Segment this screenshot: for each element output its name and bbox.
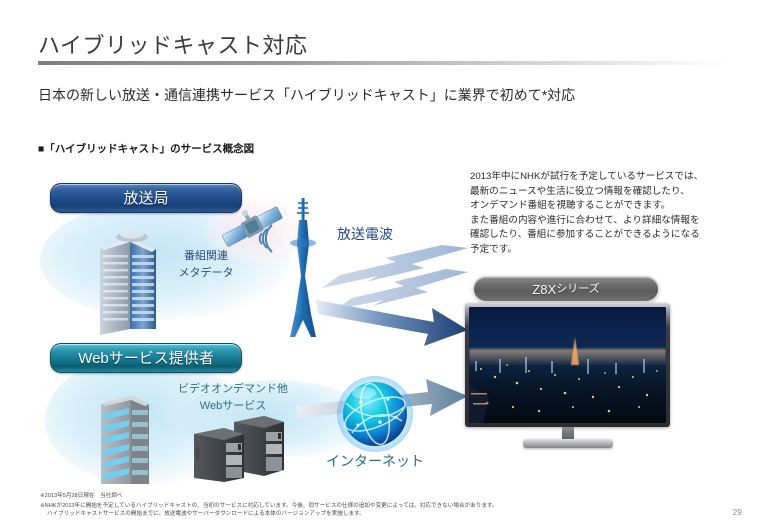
broadcaster-label-pill: 放送局 [50, 183, 242, 213]
description-line-5: 確認したり、番組に参加することができるようになる [470, 228, 720, 243]
title-divider [38, 61, 728, 65]
web-provider-label-pill: Webサービス提供者 [50, 343, 242, 373]
page-subtitle: 日本の新しい放送・通信連携サービス「ハイブリッドキャスト」に業界で初めて*対応 [38, 85, 575, 105]
description-line-2: 最新のニュースや生活に役立つ情報を確認したり、 [470, 185, 720, 200]
internet-label: インターネット [326, 453, 424, 470]
metadata-label-line-2: メタデータ [168, 265, 244, 282]
footnote-line-2: ※NHKが2013年に開始を予定しているハイブリッドキャストの、当初のサービスに… [40, 502, 498, 510]
airwave-label: 放送電波 [337, 226, 393, 243]
description-line-4: また番組の内容や進行に合わせて、より詳細な情報を [470, 214, 720, 229]
page-number: 29 [733, 507, 742, 517]
tv-bezel [465, 303, 670, 427]
web-provider-label-text: Webサービス提供者 [78, 351, 214, 366]
broadcaster-label-text: 放送局 [123, 191, 168, 206]
server-rack-icon [190, 412, 290, 482]
description-line-1: 2013年中にNHKが試行を予定しているサービスでは、 [470, 170, 720, 185]
web-service-label: ビデオオンデマンド他 Webサービス [168, 381, 298, 415]
tv-series-label-text: Z8X [532, 283, 556, 296]
footnote-line-1: ※2013年5月28日現在 当社調べ [40, 492, 122, 500]
description-line-3: オンデマンド番組を視聴することができます。 [470, 199, 720, 214]
tv-stand-base [523, 439, 613, 448]
page-title: ハイブリッドキャスト対応 [38, 28, 308, 60]
tv-series-label-suffix: シリーズ [556, 284, 599, 295]
tv-screen [469, 307, 666, 423]
night-cityscape [469, 307, 666, 423]
television-icon [465, 303, 670, 453]
web-service-label-line-1: ビデオオンデマンド他 [168, 381, 298, 398]
slide-canvas: ハイブリッドキャスト対応 日本の新しい放送・通信連携サービス「ハイブリッドキャス… [0, 0, 760, 527]
service-description: 2013年中にNHKが試行を予定しているサービスでは、 最新のニュースや生活に役… [470, 170, 720, 258]
description-line-6: 予定です。 [470, 243, 720, 258]
broadcast-arrow [316, 296, 476, 352]
tv-series-label-pill: Z8Xシリーズ [473, 276, 659, 302]
section-heading: ■「ハイブリッドキャスト」のサービス概念図 [38, 141, 254, 156]
office-building-icon [92, 225, 162, 337]
office-building-icon [95, 388, 155, 488]
internet-globe-icon [336, 375, 414, 453]
footnote-line-3: ハイブリッドキャストサービスの開始までに、放送電波やサーバーダウンロードによる本… [47, 510, 365, 518]
